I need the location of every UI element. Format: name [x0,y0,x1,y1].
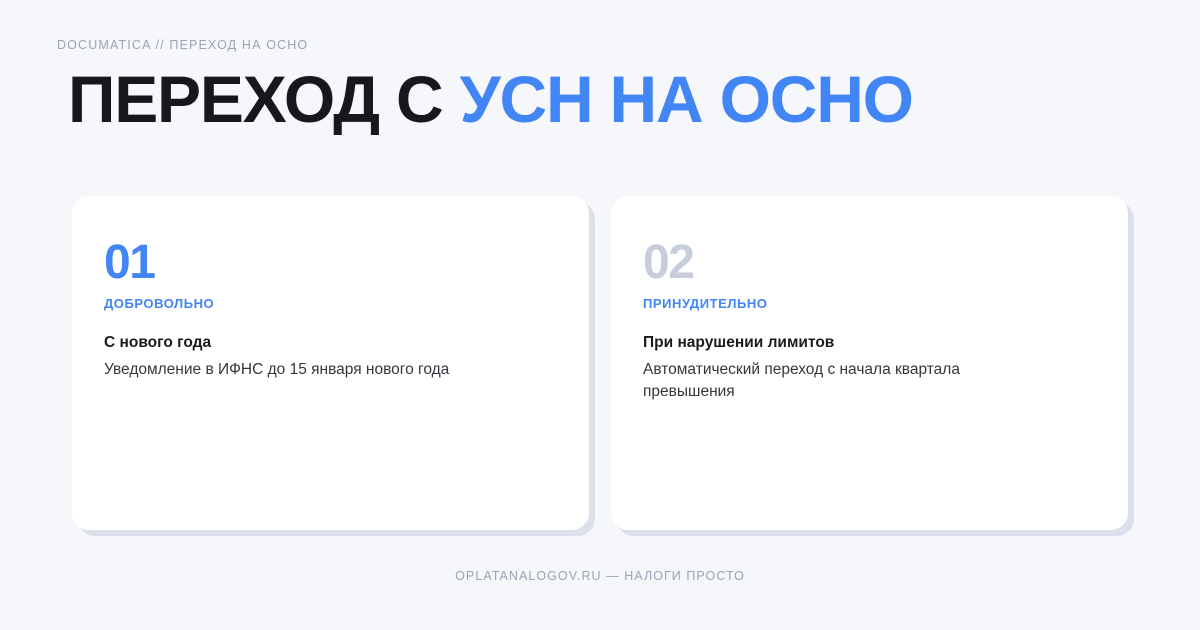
infographic-page: DOCUMATICA // ПЕРЕХОД НА ОСНО ПЕРЕХОД С … [0,0,1200,630]
card-heading: При нарушении лимитов [643,333,1092,353]
footer-attribution: OPLATANALOGOV.RU — НАЛОГИ ПРОСТО [0,569,1200,583]
card-heading: С нового года [104,333,553,353]
page-title: ПЕРЕХОД С УСН НА ОСНО [68,62,913,136]
card-item: 01 ДОБРОВОЛЬНО С нового года Уведомление… [72,196,589,530]
card-label: ПРИНУДИТЕЛЬНО [643,296,1092,312]
card-number: 02 [643,238,1092,288]
card-text: Автоматический переход с начала квартала… [643,359,1003,403]
page-title-accent: УСН НА ОСНО [460,62,913,136]
card-item: 02 ПРИНУДИТЕЛЬНО При нарушении лимитов А… [611,196,1128,530]
card-text: Уведомление в ИФНС до 15 января нового г… [104,359,464,381]
card-list: 01 ДОБРОВОЛЬНО С нового года Уведомление… [72,196,1128,530]
card-label: ДОБРОВОЛЬНО [104,296,553,312]
card-number: 01 [104,238,553,288]
page-title-lead: ПЕРЕХОД С [68,62,460,136]
breadcrumb: DOCUMATICA // ПЕРЕХОД НА ОСНО [57,38,308,52]
